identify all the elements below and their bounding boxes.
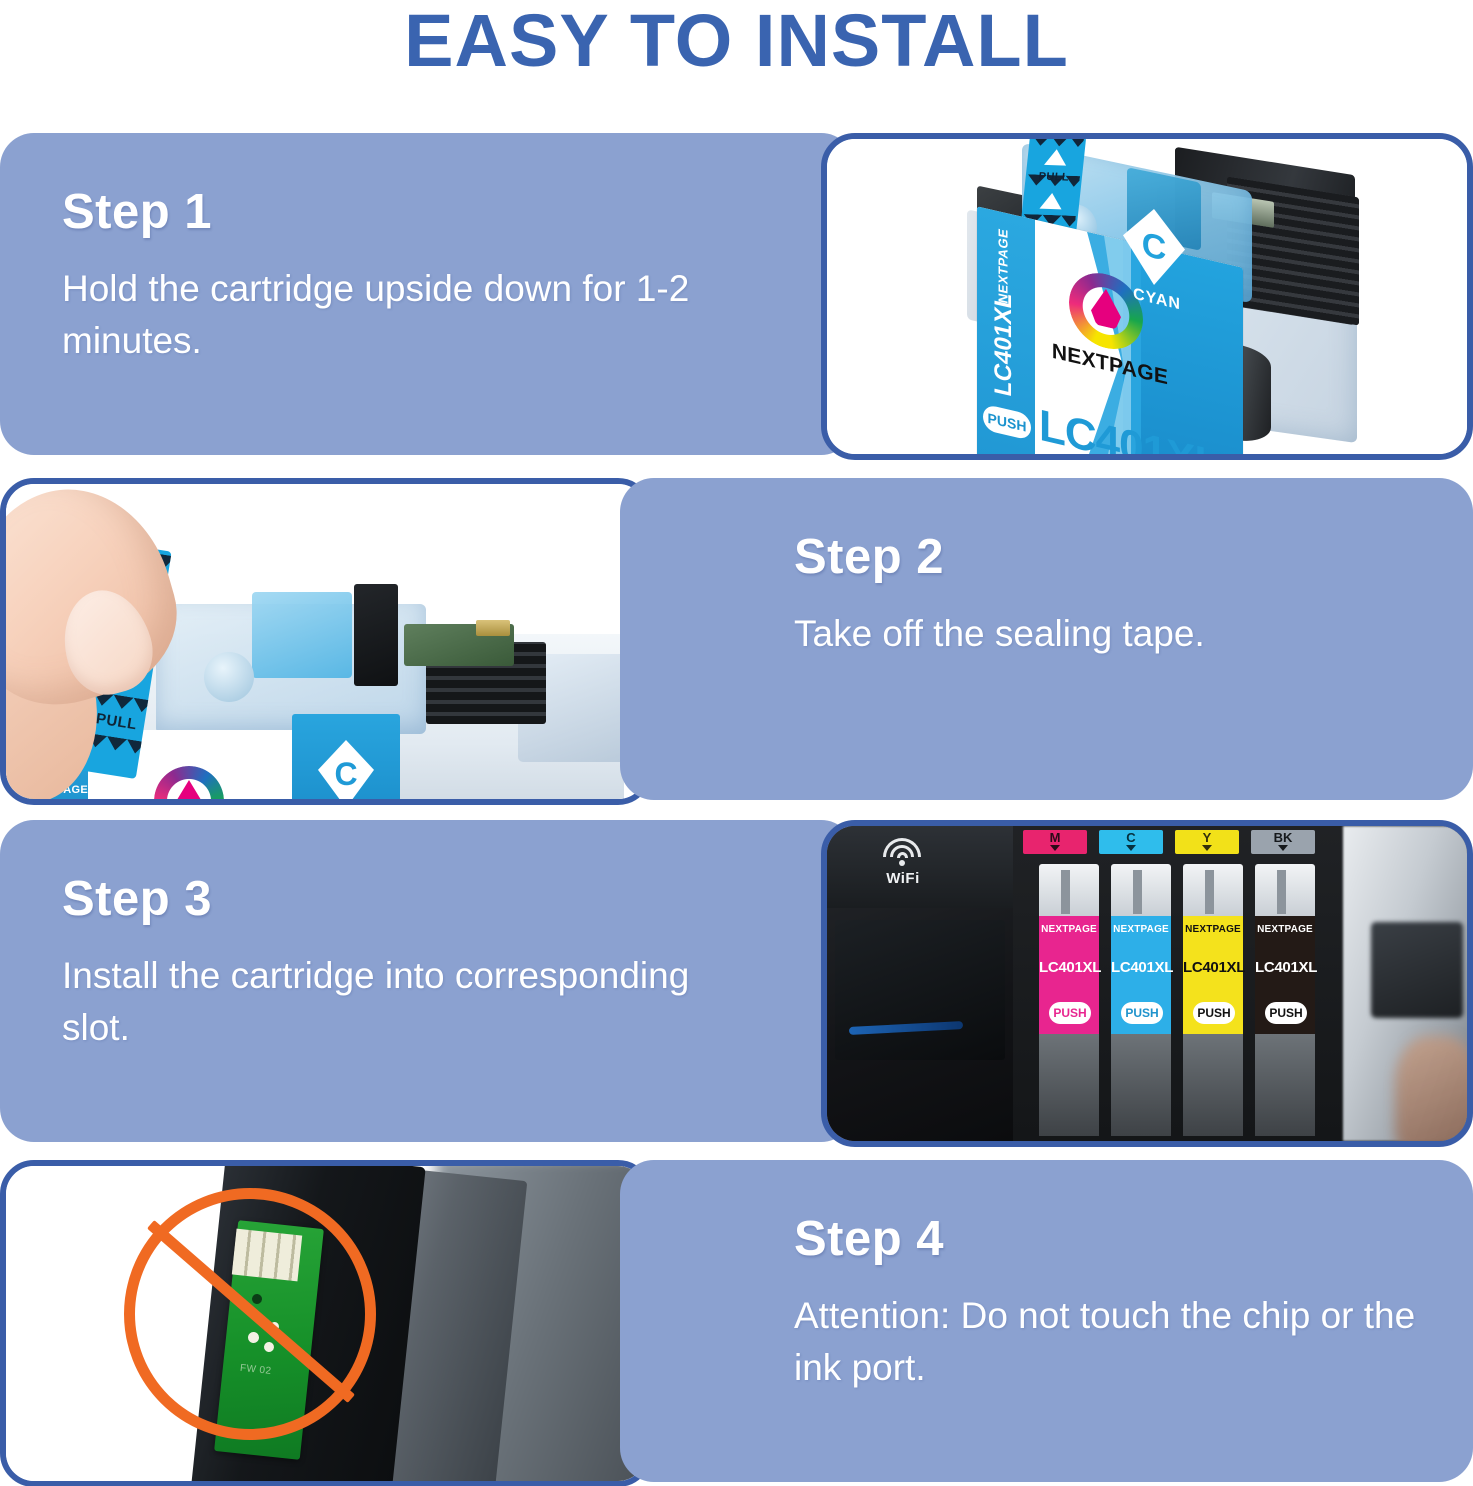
cartridge-yellow: NEXTPAGE LC401XL PUSH [1181, 864, 1245, 1136]
cartridge-brand-text: NEXTPAGE [1183, 924, 1243, 935]
step-row-2: NEXTPAGE C PULL [0, 478, 1473, 808]
step-1-image-box: PULL PULL NEXTPAGE LC401XL PUSH [821, 133, 1473, 460]
cartridge-brand-text: NEXTPAGE [1111, 924, 1171, 935]
printer-right-dark-part [1371, 922, 1463, 1018]
wifi-label: WiFi [861, 870, 945, 887]
color-letter-c: C [1123, 202, 1185, 292]
slot-label-m-text: M [1050, 830, 1061, 845]
cartridge-magenta: NEXTPAGE LC401XL PUSH [1037, 864, 1101, 1136]
cartridge-chip-contacts [476, 620, 510, 636]
cartridge-cyan: NEXTPAGE LC401XL PUSH [1109, 864, 1173, 1136]
slot-label-bk-text: BK [1274, 830, 1293, 845]
step-4-image-box: FW 02 [0, 1160, 652, 1486]
down-arrow-icon [1202, 845, 1212, 851]
slot-label-y: Y [1175, 830, 1239, 854]
slot-label-c: C [1099, 830, 1163, 854]
cartridge-brand-text: NEXTPAGE [1255, 924, 1315, 935]
step-1-text-panel: Step 1 Hold the cartridge upside down fo… [0, 133, 855, 455]
step-4-text-panel: Step 4 Attention: Do not touch the chip … [620, 1160, 1473, 1482]
wifi-icon [879, 838, 925, 868]
step-1-body: Hold the cartridge upside down for 1-2 m… [62, 263, 722, 367]
page-title: EASY TO INSTALL [0, 2, 1473, 80]
cartridge-brand-text: NEXTPAGE [1039, 924, 1099, 935]
step-2-heading: Step 2 [794, 528, 1417, 586]
step-2-text-panel: Step 2 Take off the sealing tape. [620, 478, 1473, 800]
step-2-body: Take off the sealing tape. [794, 608, 1417, 660]
cartridge-model-text: LC401XL [1039, 959, 1099, 976]
step-3-text-panel: Step 3 Install the cartridge into corres… [0, 820, 855, 1142]
cartridge-side-model: LC401XL [990, 282, 1018, 406]
slot-label-c-text: C [1126, 830, 1135, 845]
slot-label-m: M [1023, 830, 1087, 854]
background-blur-shape [1395, 1036, 1467, 1141]
push-button-label: PUSH [1049, 1002, 1091, 1024]
hand-pulling-sealing-tape: NEXTPAGE C PULL [6, 484, 646, 799]
do-not-touch-chip-prohibition: FW 02 [6, 1166, 646, 1481]
push-button-label: PUSH [1193, 1002, 1235, 1024]
step-3-image-box: WiFi M C Y [821, 820, 1473, 1147]
cartridge-vent-hole [204, 652, 254, 702]
push-button-label: PUSH [1121, 1002, 1163, 1024]
cartridge-cyan-window [252, 592, 352, 678]
step-1-heading: Step 1 [62, 183, 799, 241]
push-button-label: PUSH [1265, 1002, 1307, 1024]
step-row-1: Step 1 Hold the cartridge upside down fo… [0, 133, 1473, 463]
down-arrow-icon [1050, 845, 1060, 851]
cartridge-black: NEXTPAGE LC401XL PUSH [1253, 864, 1317, 1136]
printer-bay-with-four-cartridges: WiFi M C Y [827, 826, 1467, 1141]
down-arrow-icon [1126, 845, 1136, 851]
step-3-heading: Step 3 [62, 870, 799, 928]
color-letter-c: C [318, 740, 374, 799]
down-arrow-icon [1278, 845, 1288, 851]
slot-label-y-text: Y [1203, 830, 1212, 845]
pull-tape-label: PULL [1022, 170, 1085, 184]
step-row-4: FW 02 Step 4 Attention: Do not touch the… [0, 1160, 1473, 1486]
step-row-3: Step 3 Install the cartridge into corres… [0, 820, 1473, 1150]
nextpage-logo-icon [154, 766, 224, 799]
step-3-body: Install the cartridge into corresponding… [62, 950, 722, 1054]
slot-label-strip: M C Y BK [1023, 830, 1323, 856]
printer-screen [835, 920, 1005, 1060]
cartridge-model-text: LC401XL [1255, 959, 1315, 976]
cartridge-model-text: LC401XL [1183, 959, 1243, 976]
step-2-image-box: NEXTPAGE C PULL [0, 478, 652, 805]
infographic-page: EASY TO INSTALL Step 1 Hold the cartridg… [0, 0, 1473, 1486]
cartridge-model-text: LC401XL [1111, 959, 1171, 976]
slot-label-bk: BK [1251, 830, 1315, 854]
cyan-cartridge-product-shot: PULL PULL NEXTPAGE LC401XL PUSH [827, 139, 1467, 454]
step-4-heading: Step 4 [794, 1210, 1417, 1268]
cartridge-black-bar [354, 584, 398, 686]
step-4-body: Attention: Do not touch the chip or the … [794, 1290, 1417, 1394]
